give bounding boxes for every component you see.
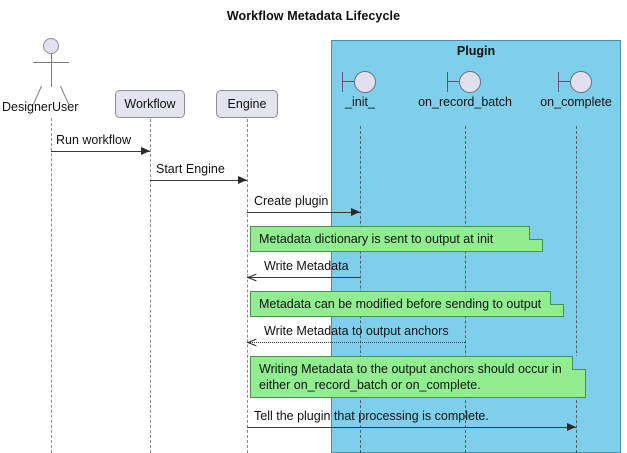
participant-label-on-record-batch: on_record_batch xyxy=(418,95,512,109)
note-text: Metadata can be modified before sending … xyxy=(259,296,555,312)
message-line xyxy=(247,427,576,428)
message-label: Write Metadata to output anchors xyxy=(264,324,449,338)
actor-arms-icon xyxy=(33,62,69,63)
participant-init[interactable]: _init_ xyxy=(340,71,380,113)
lifeline-designeruser xyxy=(51,118,52,453)
interface-socket-bar-icon xyxy=(342,72,343,92)
actor-head-icon xyxy=(43,38,59,54)
interface-lollipop-icon xyxy=(459,71,481,93)
note-text: Metadata dictionary is sent to output at… xyxy=(259,231,534,247)
message-line xyxy=(247,212,360,213)
arrowhead-right-icon xyxy=(351,208,360,216)
message-label: Tell the plugin that processing is compl… xyxy=(254,409,489,423)
interface-lollipop-icon xyxy=(354,71,376,93)
message-label: Create plugin xyxy=(254,194,328,208)
note-text: Writing Metadata to the output anchors s… xyxy=(259,361,577,393)
arrowhead-right-icon xyxy=(141,147,150,155)
participant-label-init: _init_ xyxy=(345,95,375,109)
interface-socket-bar-icon xyxy=(447,72,448,92)
participant-on-complete[interactable]: on_complete xyxy=(556,71,596,113)
interface-socket-bar-icon xyxy=(558,72,559,92)
message-write-metadata-to-output-anchors: Write Metadata to output anchors xyxy=(247,319,465,343)
plugin-group-title: Plugin xyxy=(332,44,620,58)
participant-label-engine: Engine xyxy=(228,97,267,111)
message-create-plugin: Create plugin xyxy=(247,189,360,213)
lifeline-engine xyxy=(247,119,248,453)
sequence-diagram-canvas: Workflow Metadata Lifecycle Plugin Desig… xyxy=(0,0,627,453)
note-metadata-sent-at-init: Metadata dictionary is sent to output at… xyxy=(250,226,543,252)
message-label: Run workflow xyxy=(56,133,131,147)
note-metadata-can-be-modified: Metadata can be modified before sending … xyxy=(250,291,564,317)
arrowhead-right-icon xyxy=(238,176,247,184)
message-line xyxy=(150,180,247,181)
participant-label-on-complete: on_complete xyxy=(540,95,612,109)
message-line xyxy=(247,342,465,343)
message-run-workflow: Run workflow xyxy=(51,128,150,152)
message-tell-plugin-complete: Tell the plugin that processing is compl… xyxy=(247,404,576,428)
actor-designeruser: DesignerUser xyxy=(0,0,110,118)
actor-torso-icon xyxy=(51,54,52,87)
participant-on-record-batch[interactable]: on_record_batch xyxy=(445,71,485,113)
arrowhead-right-icon xyxy=(567,423,576,431)
note-writing-metadata-location: Writing Metadata to the output anchors s… xyxy=(250,356,586,398)
message-line xyxy=(51,151,150,152)
participant-engine[interactable]: Engine xyxy=(216,90,278,118)
message-write-metadata: Write Metadata xyxy=(247,254,360,278)
actor-label-designeruser: DesignerUser xyxy=(2,100,78,114)
message-label: Start Engine xyxy=(156,162,225,176)
interface-lollipop-icon xyxy=(570,71,592,93)
participant-label-workflow: Workflow xyxy=(124,97,175,111)
participant-workflow[interactable]: Workflow xyxy=(115,90,185,118)
message-start-engine: Start Engine xyxy=(150,157,247,181)
lifeline-on-complete xyxy=(576,126,577,453)
message-line xyxy=(247,277,360,278)
message-label: Write Metadata xyxy=(264,259,349,273)
